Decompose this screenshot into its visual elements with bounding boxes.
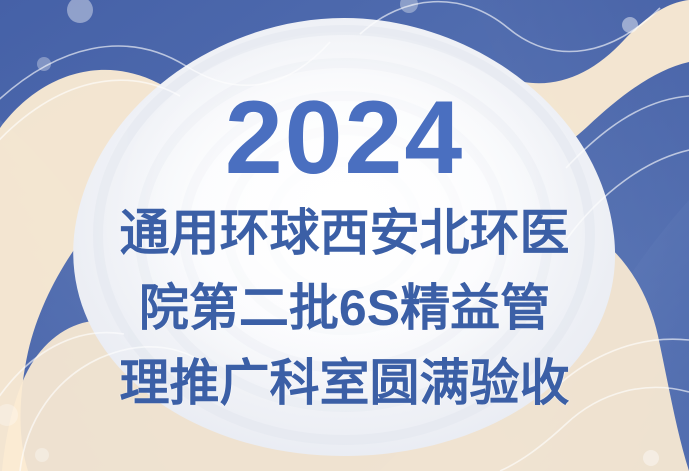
center-glow (114, 32, 574, 412)
background-decoration (0, 0, 689, 471)
poster-canvas: 2024 通用环球西安北环医 院第二批6S精益管 理推广科室圆满验收 (0, 0, 689, 471)
